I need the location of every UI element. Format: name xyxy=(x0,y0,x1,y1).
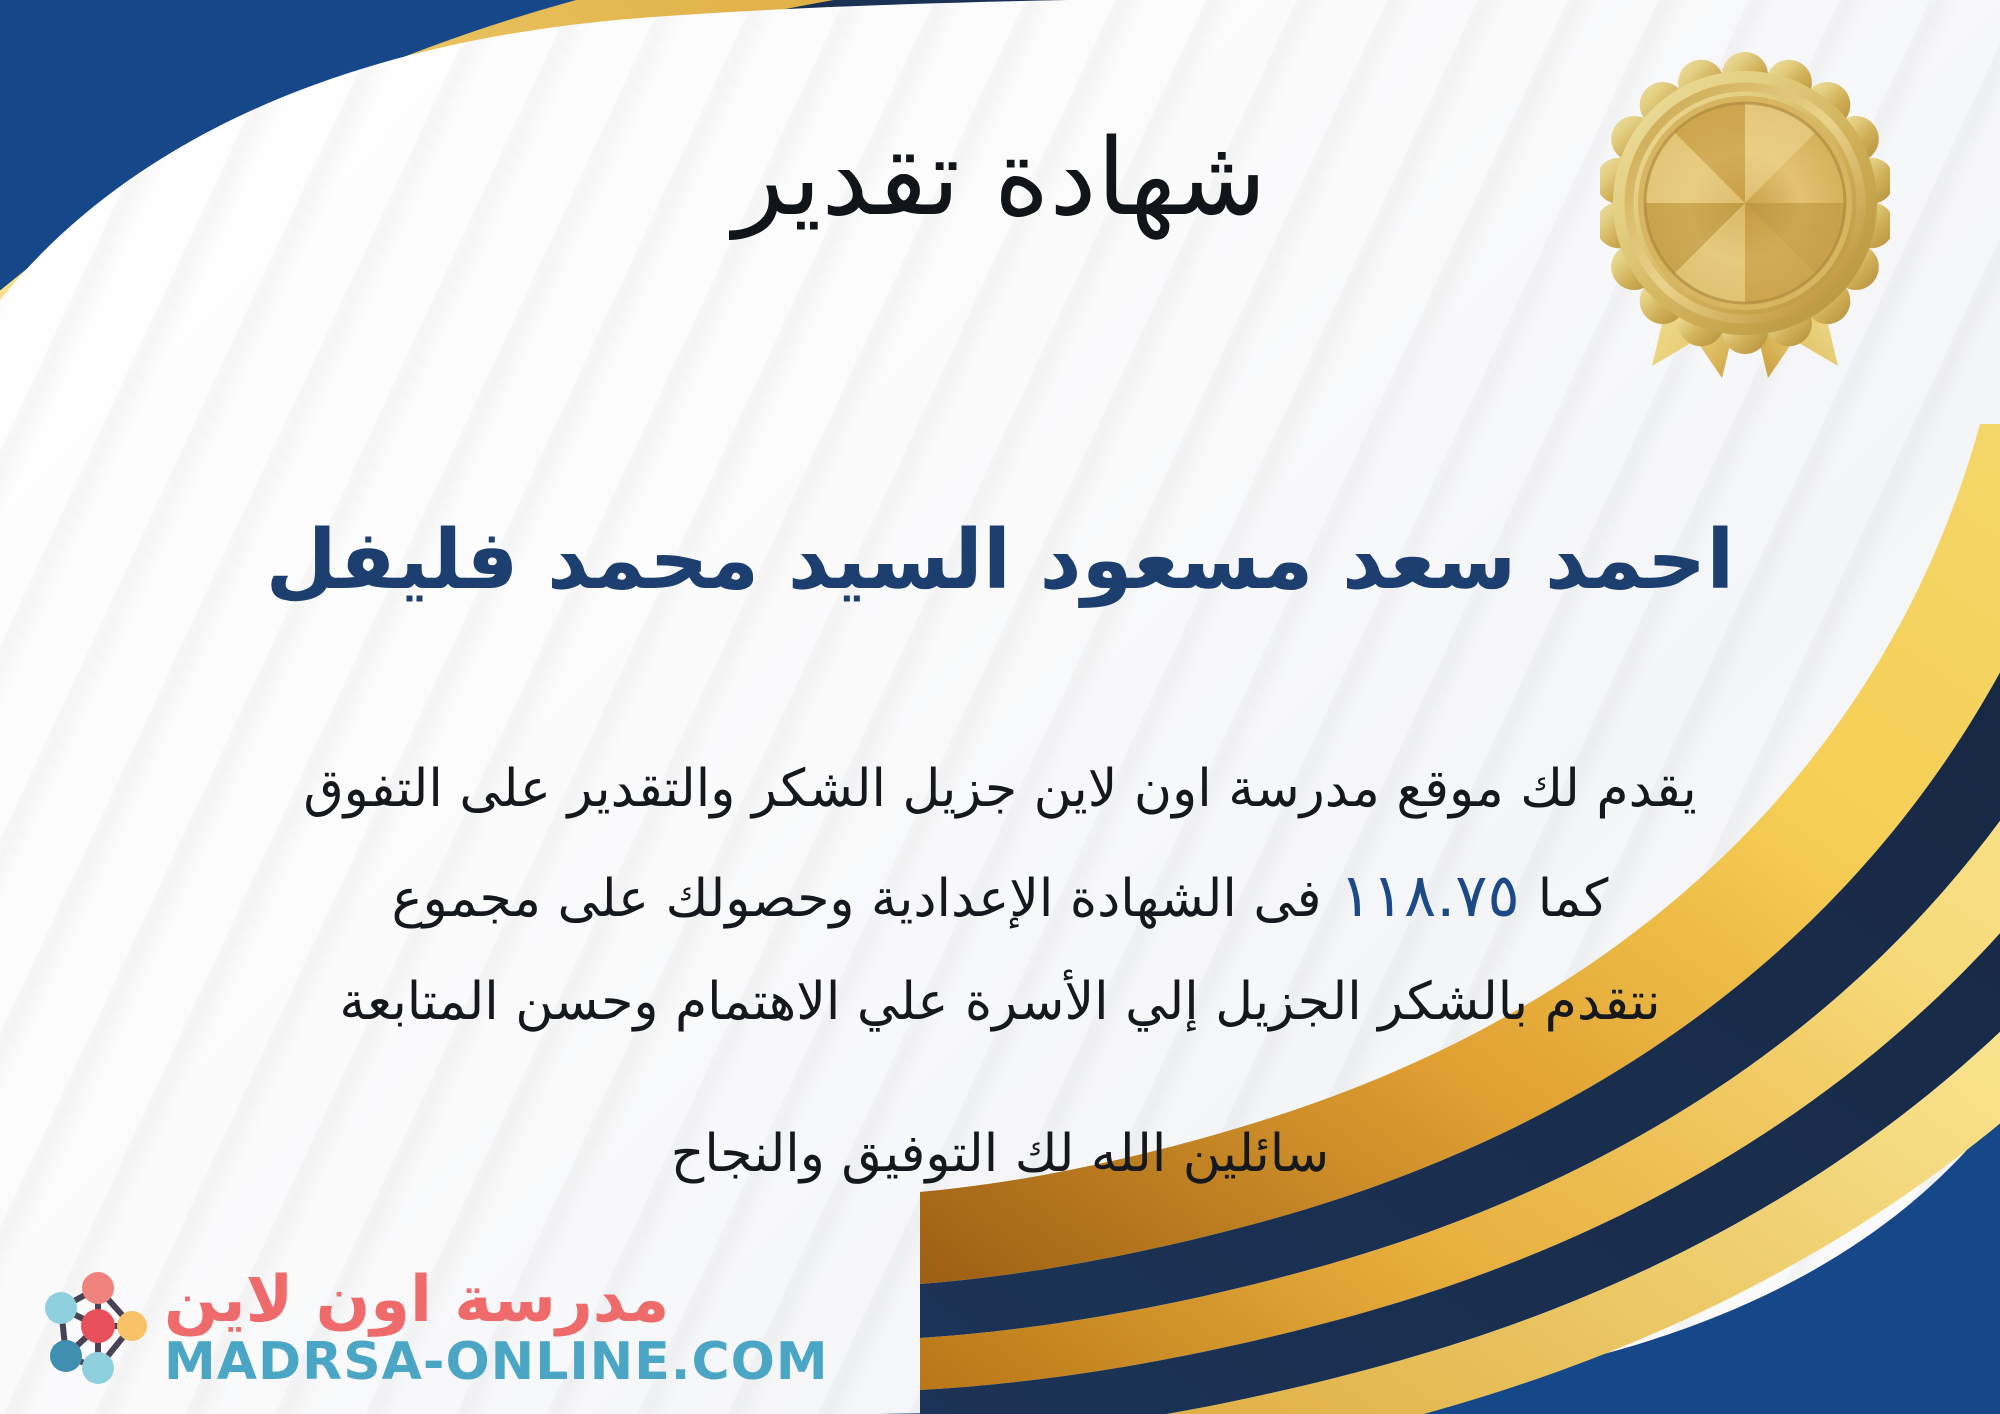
body-line-2: كما١١٨.٧٥فى الشهادة الإعدادية وحصولك على… xyxy=(70,839,1930,953)
body-line-3: نتقدم بالشكر الجزيل إلي الأسرة علي الاهت… xyxy=(70,953,1930,1052)
score-value: ١١٨.٧٥ xyxy=(1322,861,1538,931)
body-line-2-suffix: كما xyxy=(1538,869,1609,929)
body-line-2-prefix: فى الشهادة الإعدادية وحصولك على مجموع xyxy=(392,869,1322,929)
certificate-title: شهادة تقدير xyxy=(0,122,2000,233)
body-line-1: يقدم لك موقع مدرسة اون لاين جزيل الشكر و… xyxy=(70,740,1930,839)
closing-line: سائلين الله لك التوفيق والنجاح xyxy=(0,1115,2000,1193)
brand-text-group: مدرسة اون لاين MADRSA-ONLINE.COM xyxy=(164,1267,829,1389)
recipient-name: احمد سعد مسعود السيد محمد فليفل xyxy=(60,512,1940,610)
brand-logo[interactable]: مدرسة اون لاين MADRSA-ONLINE.COM xyxy=(36,1264,829,1392)
brand-domain: MADRSA-ONLINE.COM xyxy=(164,1335,829,1390)
certificate-body: يقدم لك موقع مدرسة اون لاين جزيل الشكر و… xyxy=(70,740,1930,1052)
certificate-canvas: شهادة تقدير احمد سعد مسعود السيد محمد فل… xyxy=(0,0,2000,1414)
network-nodes-icon xyxy=(36,1264,154,1392)
brand-arabic-name: مدرسة اون لاين xyxy=(164,1267,669,1335)
